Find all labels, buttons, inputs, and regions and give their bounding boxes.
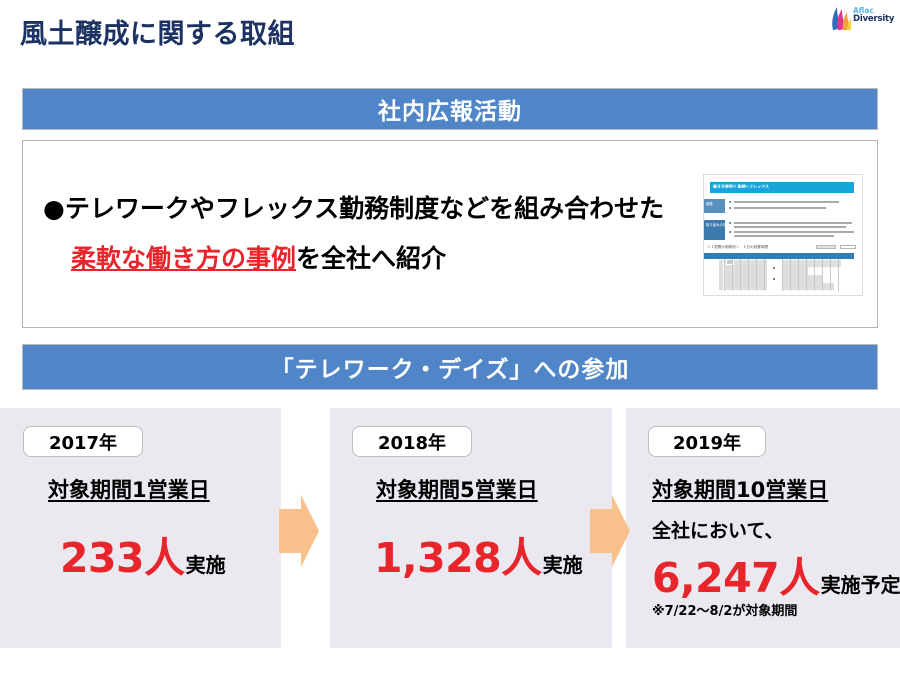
thumbnail-text-line bbox=[734, 226, 846, 228]
period-label-2019: 対象期間10営業日 bbox=[652, 474, 828, 504]
participant-count-2017: 233人 bbox=[60, 524, 185, 584]
page-title: 風土醸成に関する取組 bbox=[20, 12, 295, 51]
bullet-line-1: ●テレワークやフレックス勤務制度などを組み合わせた bbox=[43, 189, 664, 225]
thumbnail-subhead-text: ＜１週間の勤務例＞ １日の就業時間 bbox=[707, 245, 768, 250]
participant-count-2018: 1,328人 bbox=[374, 524, 542, 584]
thumbnail-header-bar: 働き方事例② 勤務×フレックス bbox=[710, 182, 854, 193]
participant-count-row-2017: 233人 実施 bbox=[60, 524, 226, 584]
thumbnail-schedule-grid bbox=[704, 253, 854, 291]
participant-count-2019: 6,247人 bbox=[652, 544, 820, 604]
bullet-marker-icon: ● bbox=[43, 194, 65, 223]
bullet-line-2: 柔軟な働き方の事例を全社へ紹介 bbox=[71, 239, 446, 275]
aflac-diversity-logo: Aflac Diversity bbox=[830, 5, 892, 35]
thumbnail-tag-text-1: 概要 bbox=[706, 202, 713, 207]
aflac-flame-mark-icon bbox=[830, 5, 852, 31]
thumbnail-bullet-dot bbox=[729, 231, 731, 233]
flexible-work-case-document-thumbnail: 働き方事例② 勤務×フレックス 概要 取り組みの効果 ＜１週間の勤務例＞ １日の… bbox=[703, 174, 863, 296]
thumbnail-header-text: 働き方事例② 勤務×フレックス bbox=[713, 184, 769, 189]
thumbnail-text-line bbox=[734, 207, 826, 209]
logo-sub-text: Diversity bbox=[853, 15, 894, 24]
footnote-2019: ※7/22〜8/2が対象期間 bbox=[652, 600, 797, 619]
bullet-line-2-rest: を全社へ紹介 bbox=[296, 244, 446, 273]
year-badge-2019: 2019年 bbox=[648, 426, 766, 457]
section-banner-internal-pr: 社内広報活動 bbox=[22, 88, 878, 130]
participant-count-row-2018: 1,328人 実施 bbox=[374, 524, 583, 584]
year-panel-2019: 2019年 対象期間10営業日 全社において、 6,247人 実施予定 ※7/2… bbox=[626, 408, 900, 648]
thumbnail-text-line bbox=[734, 201, 839, 203]
thumbnail-tag-box-overview: 概要 bbox=[704, 199, 725, 213]
thumbnail-text-line bbox=[734, 231, 854, 233]
thumbnail-bullet-dot bbox=[729, 207, 731, 209]
year-badge-2017: 2017年 bbox=[23, 426, 143, 457]
participant-count-suffix-2017: 実施 bbox=[186, 549, 226, 578]
internal-pr-content-box: ●テレワークやフレックス勤務制度などを組み合わせた 柔軟な働き方の事例を全社へ紹… bbox=[22, 140, 878, 328]
company-wide-label-2019: 全社において、 bbox=[652, 516, 783, 543]
flow-arrow-2017-to-2018-icon bbox=[279, 495, 319, 567]
year-panel-2017: 2017年 対象期間1営業日 233人 実施 bbox=[0, 408, 281, 648]
thumbnail-legend-box bbox=[816, 245, 836, 249]
bullet-line-1-text: テレワークやフレックス勤務制度などを組み合わせた bbox=[65, 194, 664, 223]
thumbnail-legend-box bbox=[840, 245, 856, 249]
period-label-2017: 対象期間1営業日 bbox=[48, 474, 210, 504]
flow-arrow-2018-to-2019-icon bbox=[590, 495, 630, 567]
year-panel-2018: 2018年 対象期間5営業日 1,328人 実施 bbox=[330, 408, 612, 648]
thumbnail-tag-text-2: 取り組みの効果 bbox=[706, 223, 730, 228]
period-label-2018: 対象期間5営業日 bbox=[376, 474, 538, 504]
participant-count-suffix-2018: 実施 bbox=[543, 549, 583, 578]
bullet-highlight-text: 柔軟な働き方の事例 bbox=[71, 244, 296, 273]
thumbnail-text-line bbox=[734, 222, 852, 224]
section-banner-telework-days: 「テレワーク・デイズ」への参加 bbox=[22, 344, 878, 390]
thumbnail-bullet-dot bbox=[729, 201, 731, 203]
participant-count-row-2019: 6,247人 実施予定 bbox=[652, 544, 900, 604]
logo-wordmark: Aflac Diversity bbox=[853, 7, 894, 24]
year-badge-2018: 2018年 bbox=[352, 426, 472, 457]
participant-count-suffix-2019: 実施予定 bbox=[821, 569, 900, 598]
thumbnail-tag-box-effect: 取り組みの効果 bbox=[704, 220, 725, 240]
thumbnail-text-line bbox=[734, 235, 834, 237]
